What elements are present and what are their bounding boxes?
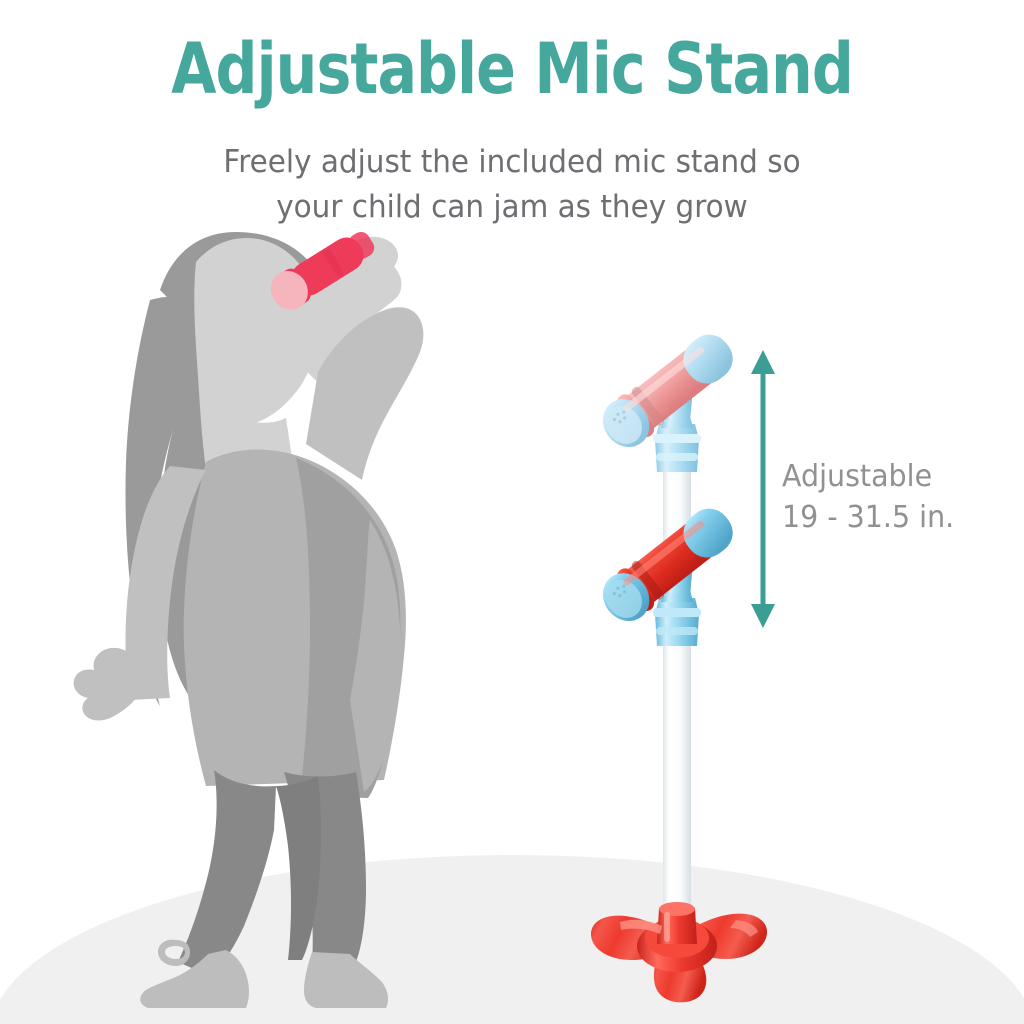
page-title: Adjustable Mic Stand (36, 32, 988, 106)
stand-base (591, 902, 767, 1002)
subtitle-line-1: Freely adjust the included mic stand so (26, 140, 999, 185)
dimension-label-line-1: Adjustable (782, 456, 986, 497)
mic-upper (593, 325, 742, 472)
dimension-label-line-2: 19 - 31.5 in. (782, 497, 986, 538)
page-subtitle: Freely adjust the included mic stand so … (26, 140, 999, 230)
product-feature-image: Adjustable Mic Stand Freely adjust the i… (0, 0, 1024, 1024)
subtitle-line-2: your child can jam as they grow (26, 185, 999, 230)
dimension-label: Adjustable 19 - 31.5 in. (782, 456, 986, 538)
